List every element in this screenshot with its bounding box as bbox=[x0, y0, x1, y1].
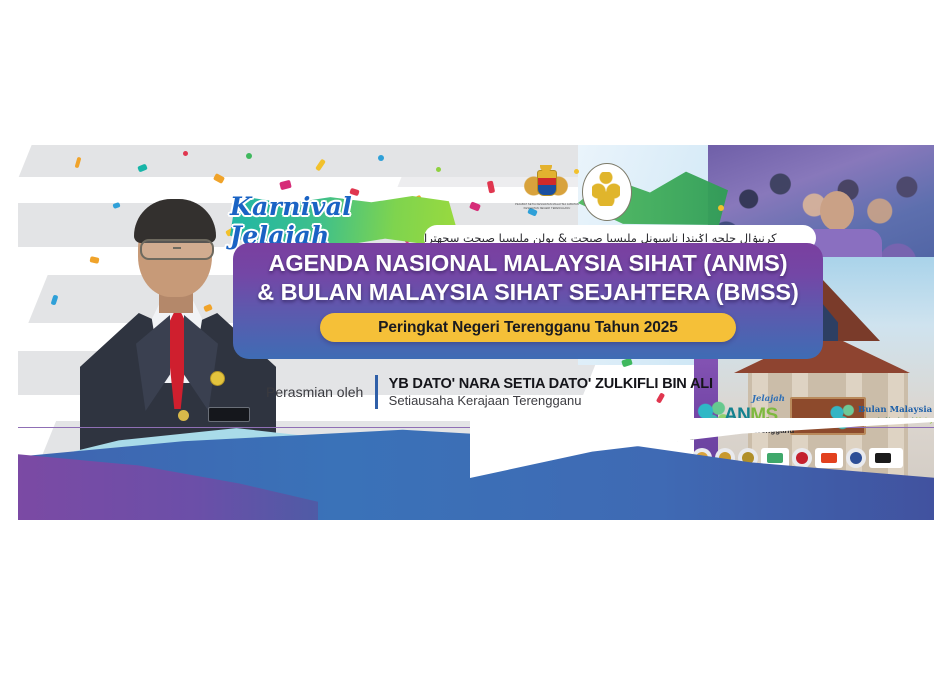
name-tag bbox=[208, 407, 250, 422]
officiator-role: Setiausaha Kerajaan Terengganu bbox=[389, 393, 713, 408]
polis-diraja-logo bbox=[846, 448, 866, 468]
title-line-1: AGENDA NASIONAL MALAYSIA SIHAT (ANMS) bbox=[245, 249, 811, 278]
eyeglasses-icon bbox=[140, 239, 214, 260]
anms-jelajah-script: Jelajah bbox=[752, 394, 785, 404]
petronas-logo bbox=[792, 448, 812, 468]
takaful-logo bbox=[869, 448, 903, 468]
event-banner: PEJABAT SETIA KESIHATAN MALAYSIA JABATAN… bbox=[18, 145, 934, 520]
title-line-2: & BULAN MALAYSIA SIHAT SEJAHTERA (BMSS) bbox=[245, 278, 811, 307]
main-title-panel: AGENDA NASIONAL MALAYSIA SIHAT (ANMS) & … bbox=[233, 243, 823, 359]
officiator-block: Perasmian oleh YB DATO' NARA SETIA DATO'… bbox=[266, 373, 736, 411]
terengganu-state-crest-icon bbox=[582, 163, 632, 221]
officiator-divider bbox=[375, 375, 377, 409]
lapel-badge-icon bbox=[210, 371, 225, 386]
officiator-name: YB DATO' NARA SETIA DATO' ZULKIFLI BIN A… bbox=[389, 376, 713, 392]
officiator-label: Perasmian oleh bbox=[266, 384, 375, 400]
mydin-logo bbox=[815, 448, 843, 468]
level-year-pill: Peringkat Negeri Terengganu Tahun 2025 bbox=[320, 313, 736, 342]
bmss-line-1: Bulan Malaysia Sihat Sejahtera bbox=[858, 405, 934, 415]
crest-caption: PEJABAT SETIA KESIHATAN MALAYSIA JABATAN… bbox=[514, 203, 580, 210]
tie-pin-icon bbox=[178, 410, 189, 421]
official-crests: PEJABAT SETIA KESIHATAN MALAYSIA JABATAN… bbox=[520, 163, 632, 225]
